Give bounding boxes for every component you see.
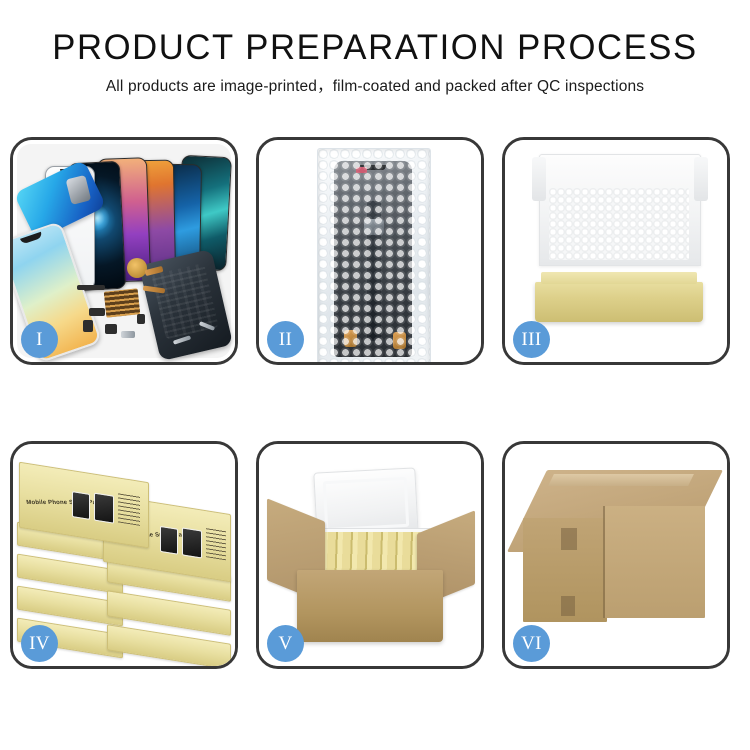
step-badge-1: I <box>21 321 58 358</box>
printed-screen-graphic <box>182 527 202 558</box>
packing-tape-icon <box>548 474 694 486</box>
page-subtitle: All products are image-printed，film-coat… <box>0 77 750 96</box>
carton-right-face <box>605 506 705 618</box>
process-step-panel-5: V Boxes loaded into a styrofoam-lined sh… <box>256 441 484 669</box>
step-badge-6: VI <box>513 625 550 662</box>
process-step-panel-1: I Assorted phone screens, glass protecto… <box>10 137 238 365</box>
chip-array-icon <box>104 288 141 317</box>
connector-icon <box>393 332 406 349</box>
header: PRODUCT PREPARATION PROCESS All products… <box>0 28 750 96</box>
page-title: PRODUCT PREPARATION PROCESS <box>4 28 747 68</box>
process-step-panel-6: VI Sealed and taped carton ready for dis… <box>502 441 730 669</box>
carton-corner-edge <box>603 506 605 618</box>
small-part-icon <box>137 314 145 324</box>
red-label-icon <box>356 167 367 173</box>
speaker-coil-icon <box>127 258 147 278</box>
yellow-tray-icon <box>535 282 703 322</box>
step-badge-2: II <box>267 321 304 358</box>
step-badge-3: III <box>513 321 550 358</box>
step-badge-5: V <box>267 625 304 662</box>
step-badge-4: IV <box>21 625 58 662</box>
process-step-panel-2: II LCD screen assembly sealed in bubble … <box>256 137 484 365</box>
small-part-icon <box>77 285 105 290</box>
box-label-text: Mobile Phone Spare Parts <box>26 500 105 506</box>
yellow-boxes-icon <box>313 532 421 570</box>
process-step-panel-4: Mobile Phone Spare Parts Mobile Phone Sp… <box>10 441 238 669</box>
printed-screen-graphic <box>72 491 90 520</box>
carton-front-panel <box>297 570 443 642</box>
small-part-icon <box>105 324 117 334</box>
spec-lines <box>206 527 226 560</box>
spec-lines <box>118 492 140 525</box>
flex-cable-icon <box>367 201 381 341</box>
small-part-icon <box>83 320 93 332</box>
printed-screen-graphic <box>160 526 178 555</box>
carton-seam <box>561 528 577 550</box>
connector-icon <box>344 330 357 347</box>
foam-sheet-icon <box>549 188 689 260</box>
carton-seam <box>561 596 575 616</box>
small-part-icon <box>89 308 105 316</box>
small-part-icon <box>121 331 135 338</box>
product-preparation-infographic: PRODUCT PREPARATION PROCESS All products… <box>0 0 750 750</box>
printed-screen-graphic <box>94 493 114 524</box>
process-step-panel-3: III Screen placed into a yellow carton w… <box>502 137 730 365</box>
process-step-grid: I Assorted phone screens, glass protecto… <box>10 137 742 669</box>
bubble-wrap-bag-icon <box>317 148 431 362</box>
